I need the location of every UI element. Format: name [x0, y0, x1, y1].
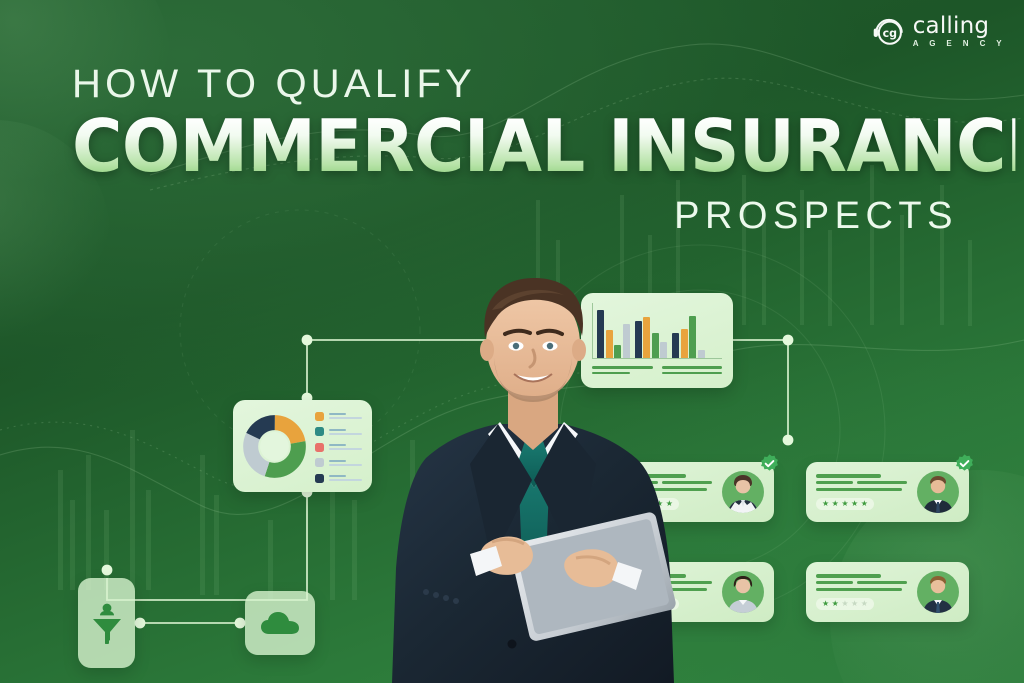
prospect-card[interactable]: ★ ★ ★ ★ ★ [806, 462, 969, 522]
flow-node [783, 435, 794, 446]
donut-legend [315, 409, 362, 483]
legend-swatch-teal [315, 427, 324, 436]
flow-node [102, 565, 113, 576]
cloud-icon [259, 609, 301, 637]
verified-check-icon [954, 453, 975, 474]
verified-check-icon [759, 453, 780, 474]
logo-subtext: A G E N C Y [913, 40, 1006, 48]
legend-swatch-gray [315, 458, 324, 467]
logo-wordmark: calling [913, 15, 1006, 38]
legend-item [315, 474, 362, 483]
donut-chart [243, 415, 306, 478]
avatar [722, 571, 764, 613]
avatar [722, 471, 764, 513]
star-rating: ★ ★ ★ ★ ★ [816, 598, 874, 610]
star-icon: ★ [822, 600, 830, 608]
star-icon: ★ [832, 600, 840, 608]
star-icon: ★ [841, 600, 849, 608]
flow-node [235, 618, 246, 629]
headline-line-2: COMMERCIAL INSURANCE [72, 113, 1015, 179]
avatar [917, 571, 959, 613]
star-icon: ★ [861, 500, 869, 508]
star-icon: ★ [851, 500, 859, 508]
flow-node [302, 335, 313, 346]
bar [698, 350, 705, 358]
donut-chart-card[interactable] [233, 400, 372, 492]
tile-lead-funnel[interactable] [78, 578, 135, 668]
legend-swatch-salmon [315, 443, 324, 452]
star-icon: ★ [851, 600, 859, 608]
avatar [917, 471, 959, 513]
flow-node [135, 618, 146, 629]
prospect-card-text: ★ ★ ★ ★ ★ [816, 574, 909, 610]
headline-block: HOW TO QUALIFY COMMERCIAL INSURANCE PROS… [72, 62, 962, 238]
legend-item [315, 443, 362, 452]
headset-circle-cg-icon: cg [872, 14, 906, 48]
star-icon: ★ [861, 600, 869, 608]
legend-swatch-orange [315, 412, 324, 421]
star-icon: ★ [832, 500, 840, 508]
legend-item [315, 412, 362, 421]
star-rating: ★ ★ ★ ★ ★ [816, 498, 874, 510]
star-icon: ★ [841, 500, 849, 508]
tile-cloud[interactable] [245, 591, 315, 655]
legend-item [315, 427, 362, 436]
headline-line-3: PROSPECTS [72, 195, 958, 238]
headline-line-1: HOW TO QUALIFY [72, 62, 962, 107]
legend-swatch-navy [315, 474, 324, 483]
brand-logo[interactable]: cg calling A G E N C Y [872, 14, 1006, 48]
prospect-card-text: ★ ★ ★ ★ ★ [816, 474, 909, 510]
star-icon: ★ [822, 500, 830, 508]
svg-text:cg: cg [882, 27, 896, 40]
lead-funnel-icon [90, 600, 124, 646]
flow-node [783, 335, 794, 346]
prospect-card[interactable]: ★ ★ ★ ★ ★ [806, 562, 969, 622]
poster-canvas: cg calling A G E N C Y HOW TO QUALIFY CO… [0, 0, 1024, 683]
legend-item [315, 458, 362, 467]
hero-businessman-photo [366, 262, 696, 683]
